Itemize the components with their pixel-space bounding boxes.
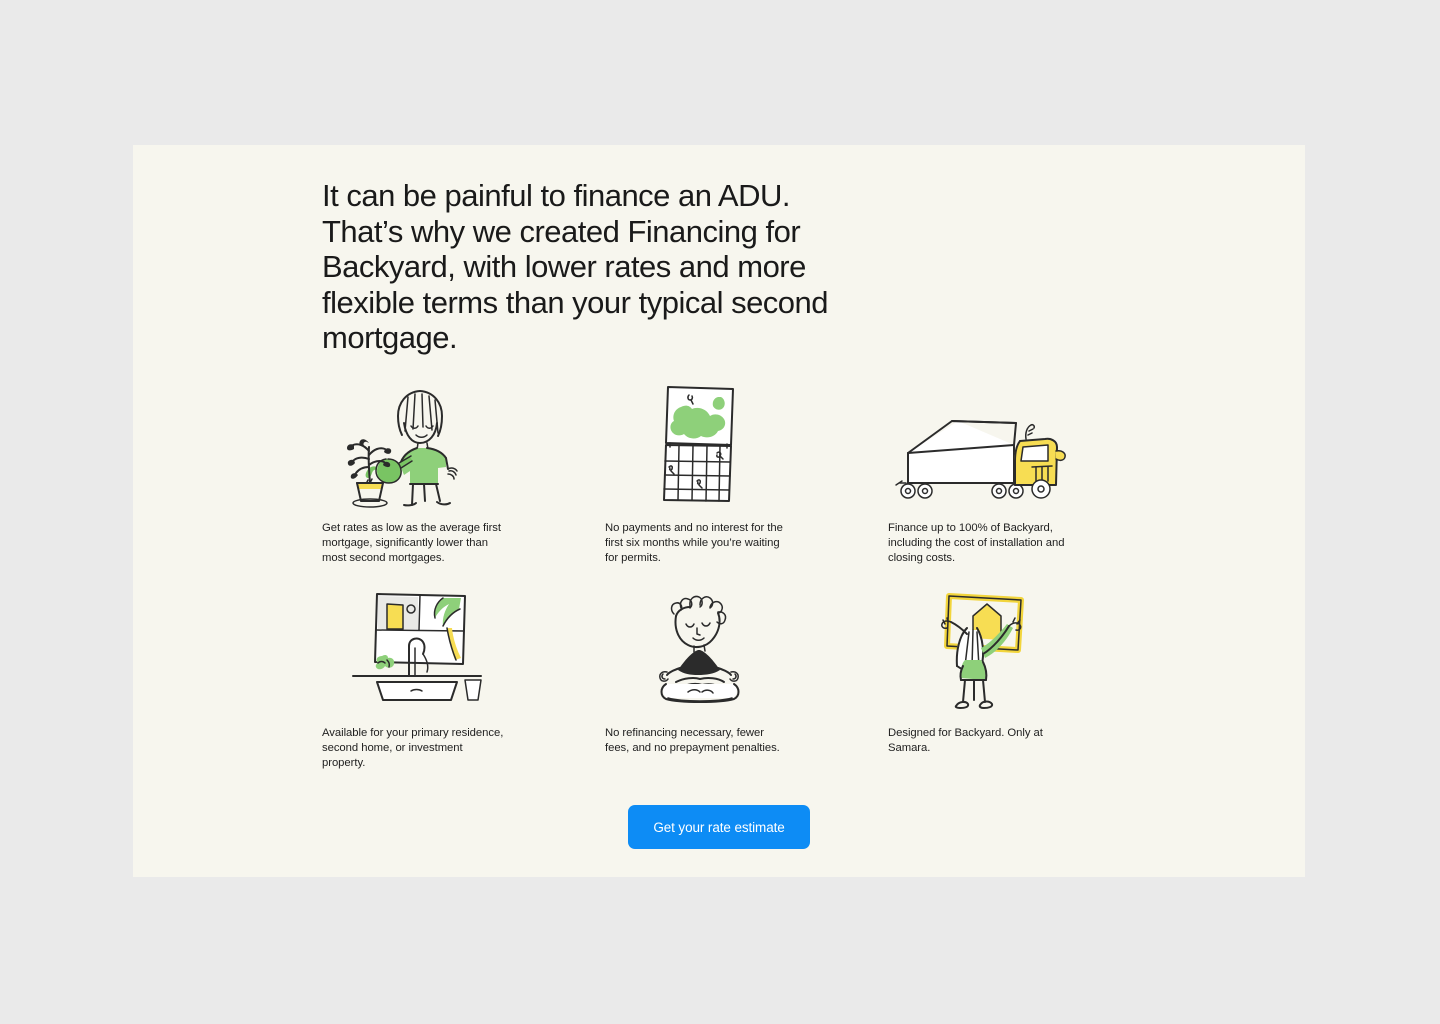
- feature-text: No refinancing necessary, fewer fees, an…: [605, 726, 791, 756]
- feature-text: Designed for Backyard. Only at Samara.: [888, 726, 1074, 756]
- kitchen-sink-icon: [322, 588, 512, 708]
- person-watering-plant-icon: [322, 383, 512, 505]
- feature-item: Get rates as low as the average first mo…: [322, 383, 605, 588]
- feature-item: Available for your primary residence, se…: [322, 588, 605, 793]
- page-title: It can be painful to finance an ADU. Tha…: [322, 178, 842, 356]
- feature-item: No payments and no interest for the firs…: [605, 383, 888, 588]
- truck-hauling-home-icon: [888, 383, 1078, 505]
- feature-text: No payments and no interest for the firs…: [605, 521, 791, 567]
- feature-text: Get rates as low as the average first mo…: [322, 521, 508, 567]
- feature-item: Designed for Backyard. Only at Samara.: [888, 588, 1171, 793]
- page-root: It can be painful to finance an ADU. Tha…: [0, 0, 1440, 1024]
- calendar-icon: [605, 383, 795, 505]
- financing-card: It can be painful to finance an ADU. Tha…: [133, 145, 1305, 877]
- feature-item: Finance up to 100% of Backyard, includin…: [888, 383, 1171, 588]
- person-holding-framed-house-icon: [888, 588, 1078, 708]
- feature-text: Finance up to 100% of Backyard, includin…: [888, 521, 1074, 567]
- feature-grid: Get rates as low as the average first mo…: [322, 383, 1222, 793]
- feature-item: No refinancing necessary, fewer fees, an…: [605, 588, 888, 793]
- cta-row: Get your rate estimate: [133, 805, 1305, 849]
- feature-text: Available for your primary residence, se…: [322, 726, 508, 772]
- get-rate-estimate-button[interactable]: Get your rate estimate: [628, 805, 809, 849]
- person-meditating-icon: [605, 588, 795, 708]
